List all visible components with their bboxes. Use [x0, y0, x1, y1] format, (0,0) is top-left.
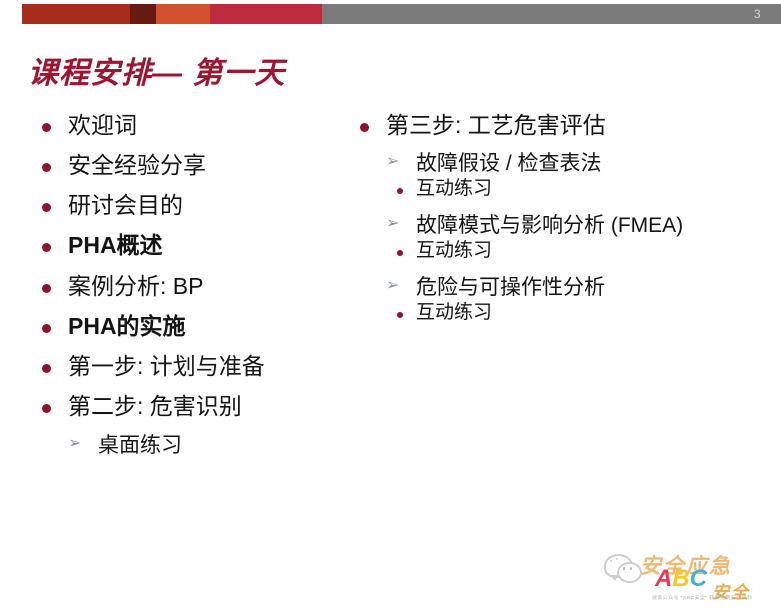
bullet-item-level1: 第二步: 危害识别	[34, 393, 364, 420]
bullet-marker-level3	[397, 250, 403, 256]
bullet-item-label: 案例分析: BP	[68, 273, 203, 299]
bar-segment-dark-maroon	[130, 4, 156, 24]
bullet-column-right: 第三步: 工艺危害评估➢故障假设 / 检查表法互动练习➢故障模式与影响分析 (F…	[352, 112, 752, 335]
bullet-item-level2: ➢桌面练习	[64, 433, 364, 458]
watermark: 安全应急 ABC 安全 搜索公众号 "ABC安全" 获取免费安全资料	[600, 548, 775, 606]
slide-title: 课程安排— 第一天	[28, 48, 285, 92]
bullet-marker-level1	[42, 324, 51, 333]
bubble-dot-one	[610, 560, 612, 562]
bullet-item-label: 桌面练习	[98, 434, 182, 457]
wechat-bubble-icon	[604, 554, 638, 581]
bullet-marker-level3	[397, 188, 403, 194]
bullet-item-label: PHA的实施	[68, 313, 186, 339]
bullet-item-level1: PHA的实施	[34, 313, 364, 340]
bullet-item-level3: 互动练习	[382, 302, 752, 325]
header-color-bar	[0, 4, 781, 24]
bubble-eye-left	[623, 567, 625, 570]
bullet-marker-level2: ➢	[386, 278, 399, 294]
bullet-item-level2: ➢危险与可操作性分析	[382, 275, 752, 300]
bullet-marker-level1	[42, 243, 51, 252]
bullet-marker-level1	[42, 364, 51, 373]
bullet-item-level1: 第三步: 工艺危害评估	[352, 112, 752, 139]
letter-b: B	[672, 565, 689, 592]
bullet-marker-level1	[42, 123, 51, 132]
bullet-item-label: 互动练习	[416, 178, 492, 199]
bubble-eye-right	[630, 567, 632, 570]
bullet-marker-level1	[42, 284, 51, 293]
bullet-item-label: 互动练习	[416, 240, 492, 261]
slide-canvas: 3 课程安排— 第一天 欢迎词安全经验分享研讨会目的PHA概述案例分析: BPP…	[0, 0, 781, 609]
bullet-item-label: 研讨会目的	[68, 192, 183, 218]
bullet-item-label: 故障模式与影响分析 (FMEA)	[416, 214, 683, 237]
bullet-item-label: 第三步: 工艺危害评估	[386, 112, 606, 138]
bullet-item-level1: PHA概述	[34, 232, 364, 259]
bullet-item-level1: 案例分析: BP	[34, 273, 364, 300]
bullet-item-label: 故障假设 / 检查表法	[416, 152, 602, 175]
watermark-abc-logo: ABC	[655, 565, 707, 593]
bullet-item-level1: 研讨会目的	[34, 192, 364, 219]
bullet-item-level3: 互动练习	[382, 178, 752, 201]
letter-c: C	[690, 565, 707, 592]
letter-a: A	[655, 565, 672, 592]
bullet-item-level1: 欢迎词	[34, 112, 364, 139]
bubble-small-shape	[617, 562, 642, 583]
bar-left-spacer	[0, 4, 22, 24]
page-number: 3	[754, 4, 761, 24]
bullet-item-label: 危险与可操作性分析	[416, 276, 605, 299]
bullet-item-label: 第二步: 危害识别	[68, 393, 242, 419]
bullet-item-label: 安全经验分享	[68, 152, 206, 178]
bullet-marker-level1	[42, 163, 51, 172]
bullet-marker-level3	[397, 312, 403, 318]
bullet-marker-level2: ➢	[386, 154, 399, 170]
bullet-marker-level1	[42, 203, 51, 212]
bullet-item-label: 第一步: 计划与准备	[68, 353, 265, 379]
bullet-marker-level1	[360, 123, 369, 132]
bar-segment-brick-red	[22, 4, 130, 24]
watermark-fine-print: 搜索公众号 "ABC安全" 获取免费安全资料	[652, 594, 752, 601]
bullet-item-level1: 安全经验分享	[34, 152, 364, 179]
bullet-item-label: 欢迎词	[68, 112, 137, 138]
bullet-item-level2: ➢故障假设 / 检查表法	[382, 151, 752, 176]
bullet-item-level2: ➢故障模式与影响分析 (FMEA)	[382, 213, 752, 238]
bullet-marker-level1	[42, 404, 51, 413]
bar-segment-orange-red	[156, 4, 210, 24]
bullet-item-label: 互动练习	[416, 302, 492, 323]
bullet-column-left: 欢迎词安全经验分享研讨会目的PHA概述案例分析: BPPHA的实施第一步: 计划…	[34, 112, 364, 463]
bullet-item-label: PHA概述	[68, 232, 163, 258]
bullet-marker-level2: ➢	[386, 216, 399, 232]
bullet-item-level1: 第一步: 计划与准备	[34, 353, 364, 380]
bullet-item-level3: 互动练习	[382, 240, 752, 263]
bubble-dot-two	[616, 558, 618, 560]
bar-segment-gray	[322, 4, 781, 24]
bar-segment-crimson	[210, 4, 322, 24]
bullet-marker-level2: ➢	[68, 436, 81, 452]
